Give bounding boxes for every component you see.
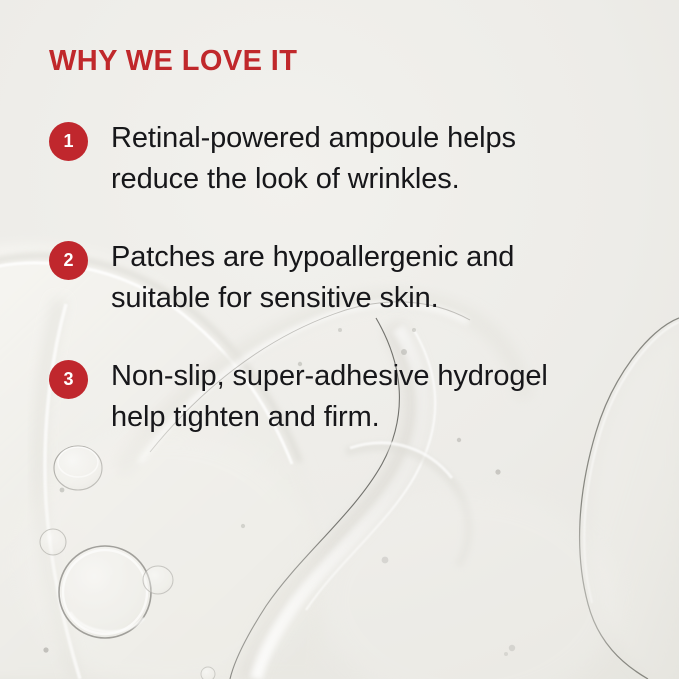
benefit-number-badge: 3 bbox=[49, 360, 88, 399]
benefit-text-line: Non-slip, super-adhesive hydrogel bbox=[111, 356, 656, 397]
benefit-text-1: Retinal-powered ampoule helps reduce the… bbox=[111, 118, 656, 200]
benefit-text-line: reduce the look of wrinkles. bbox=[111, 159, 656, 200]
page-title: WHY WE LOVE IT bbox=[49, 44, 297, 78]
benefit-number-badge: 2 bbox=[49, 241, 88, 280]
marketing-graphic: WHY WE LOVE IT 1 Retinal-powered ampoule… bbox=[0, 0, 679, 679]
benefit-text-2: Patches are hypoallergenic and suitable … bbox=[111, 237, 656, 319]
benefit-text-line: suitable for sensitive skin. bbox=[111, 278, 656, 319]
benefit-text-line: Patches are hypoallergenic and bbox=[111, 237, 656, 278]
benefit-text-3: Non-slip, super-adhesive hydrogel help t… bbox=[111, 356, 656, 438]
benefit-number-badge: 1 bbox=[49, 122, 88, 161]
content-overlay: WHY WE LOVE IT 1 Retinal-powered ampoule… bbox=[0, 0, 679, 679]
benefit-text-line: Retinal-powered ampoule helps bbox=[111, 118, 656, 159]
benefit-text-line: help tighten and firm. bbox=[111, 397, 656, 438]
